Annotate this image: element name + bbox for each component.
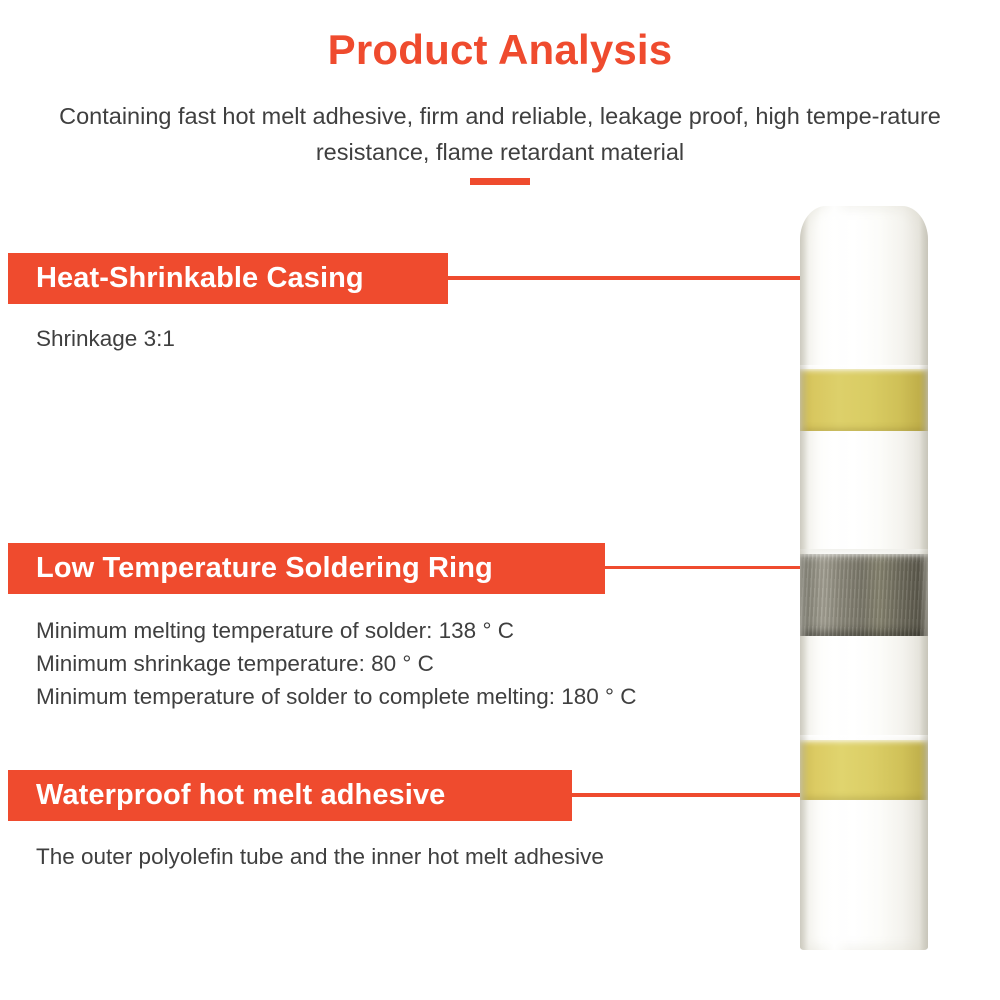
description-line: The outer polyolefin tube and the inner … (36, 840, 604, 873)
callout-label: Low Temperature Soldering Ring (36, 552, 493, 585)
hot-melt-adhesive-band-bottom (800, 740, 928, 800)
header-divider (470, 178, 530, 185)
hot-melt-adhesive-band-top (800, 369, 928, 431)
description-line: Minimum temperature of solder to complet… (36, 680, 637, 713)
page-subtitle: Containing fast hot melt adhesive, firm … (35, 98, 965, 170)
page-title: Product Analysis (0, 26, 1000, 74)
callout-label: Heat-Shrinkable Casing (36, 262, 364, 295)
callout-description-1: Shrinkage 3:1 (36, 322, 175, 355)
callout-label: Waterproof hot melt adhesive (36, 779, 445, 812)
callout-description-2: Minimum melting temperature of solder: 1… (36, 614, 637, 713)
low-temperature-solder-ring (800, 554, 928, 636)
heat-shrink-tube-body (800, 206, 928, 950)
callout-banner-low-temperature-soldering-ring: Low Temperature Soldering Ring (8, 543, 605, 594)
leader-line-1 (448, 276, 844, 280)
description-line: Minimum shrinkage temperature: 80 ° C (36, 647, 637, 680)
tube-edge-left (800, 206, 809, 950)
callout-description-3: The outer polyolefin tube and the inner … (36, 840, 604, 873)
tube-edge-right (919, 206, 928, 950)
description-line: Shrinkage 3:1 (36, 322, 175, 355)
callout-banner-heat-shrinkable-casing: Heat-Shrinkable Casing (8, 253, 448, 304)
description-line: Minimum melting temperature of solder: 1… (36, 614, 637, 647)
product-photo-solder-seal-connector (798, 206, 930, 952)
callout-banner-waterproof-hot-melt-adhesive: Waterproof hot melt adhesive (8, 770, 572, 821)
